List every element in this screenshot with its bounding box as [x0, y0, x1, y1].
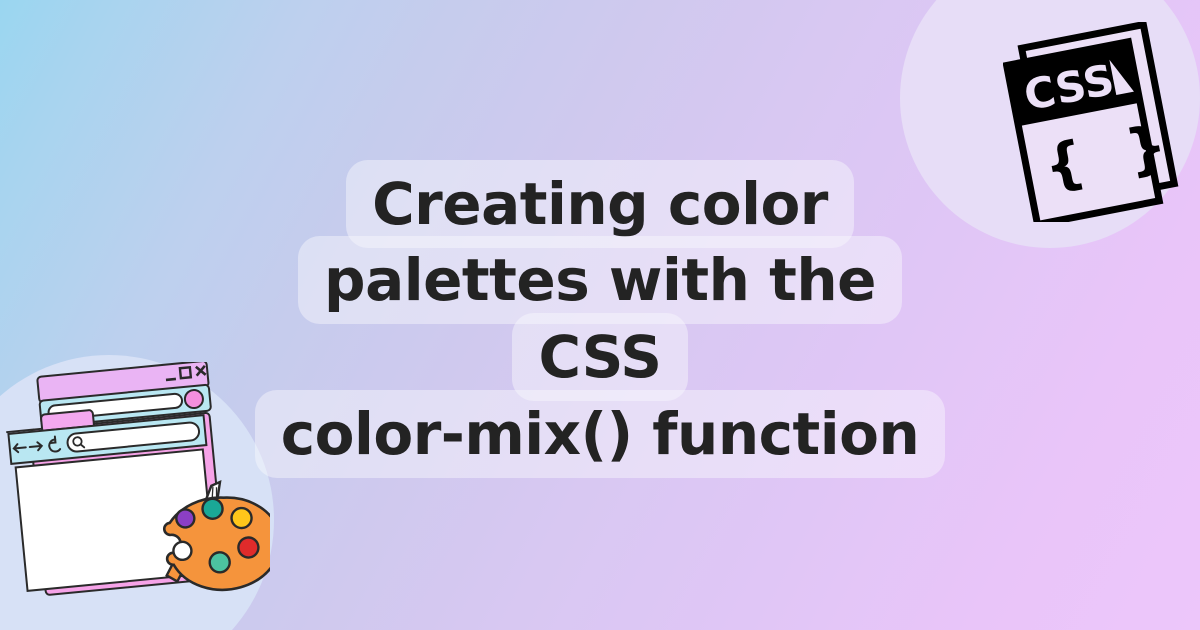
page-title: Creating color palettes with the CSS col… — [250, 166, 950, 472]
well-white — [173, 541, 193, 561]
browser-window-illustration — [2, 362, 270, 610]
title-line-1: Creating color — [346, 160, 854, 248]
title-line-3: color-mix() function — [255, 390, 946, 478]
social-card-canvas: CSS { } — [0, 0, 1200, 630]
well-green — [209, 551, 231, 573]
well-purple — [176, 509, 196, 529]
well-teal — [202, 498, 224, 520]
title-line-2: palettes with the CSS — [298, 236, 902, 401]
browser-profile-button — [184, 389, 204, 409]
css-file-icon: CSS { } — [1003, 22, 1183, 222]
well-yellow — [231, 507, 253, 529]
well-red — [238, 537, 260, 559]
